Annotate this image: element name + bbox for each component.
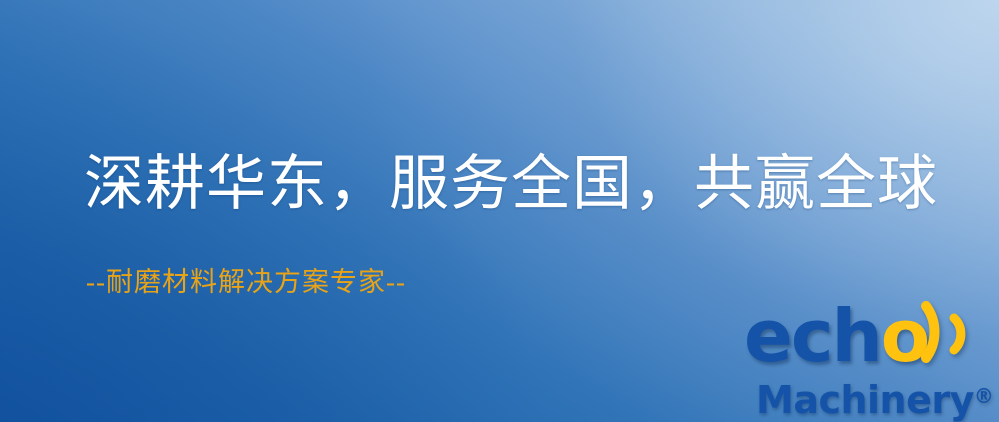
banner-subheadline: --耐磨材料解决方案专家--	[86, 266, 406, 298]
promo-banner: 深耕华东，服务全国，共赢全球 --耐磨材料解决方案专家-- echo Machi…	[0, 0, 999, 422]
registered-trademark-icon: ®	[974, 384, 994, 408]
echo-wave-icon	[902, 294, 988, 368]
logo-subtext: Machinery®	[756, 376, 994, 420]
echo-machinery-logo[interactable]: echo Machinery®	[742, 300, 994, 422]
banner-headline: 深耕华东，服务全国，共赢全球	[84, 150, 938, 219]
logo-wordmark: echo	[744, 300, 928, 372]
logo-subtext-label: Machinery	[756, 378, 974, 422]
logo-wordmark-prefix: ech	[744, 294, 881, 378]
